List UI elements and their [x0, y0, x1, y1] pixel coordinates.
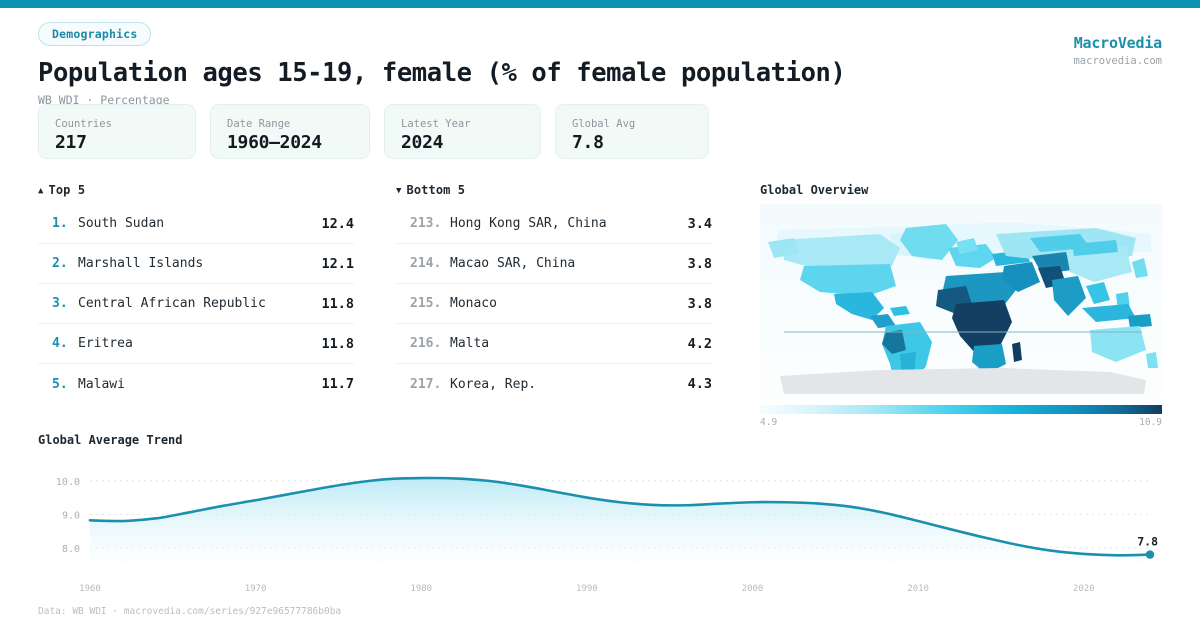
country-value: 3.4 [688, 216, 712, 232]
svg-text:10.0: 10.0 [56, 477, 80, 488]
triangle-up-icon: ▲ [38, 186, 44, 196]
country-name: Malta [450, 336, 688, 351]
legend-gradient-bar [760, 405, 1162, 414]
brand-name: MacroVedia [1073, 34, 1162, 52]
svg-text:8.0: 8.0 [62, 544, 80, 555]
svg-text:9.0: 9.0 [62, 510, 80, 521]
country-name: Malawi [78, 377, 321, 392]
page-body: Demographics Population ages 15-19, fema… [0, 8, 1200, 630]
svg-text:2010: 2010 [907, 584, 929, 594]
legend-max-label: 10.9 [1139, 417, 1162, 428]
svg-text:1970: 1970 [245, 584, 267, 594]
rank-number: 5. [52, 377, 78, 392]
svg-text:2000: 2000 [742, 584, 764, 594]
top5-list: ▲Top 5 1. South Sudan 12.4 2. Marshall I… [38, 183, 354, 404]
country-value: 11.8 [321, 296, 354, 312]
trend-chart[interactable]: 8.09.010.0 7.8 1960197019801990200020102… [38, 455, 1162, 595]
bottom5-heading: ▼Bottom 5 [396, 183, 712, 197]
bottom5-heading-label: Bottom 5 [407, 183, 466, 197]
list-item[interactable]: 2. Marshall Islands 12.1 [38, 244, 354, 284]
list-item[interactable]: 214. Macao SAR, China 3.8 [396, 244, 712, 284]
stat-label: Latest Year [401, 118, 524, 130]
triangle-down-icon: ▼ [396, 186, 402, 196]
end-point-marker [1146, 550, 1154, 558]
country-name: Marshall Islands [78, 256, 321, 271]
svg-text:1990: 1990 [576, 584, 598, 594]
top5-heading: ▲Top 5 [38, 183, 354, 197]
top-accent-bar [0, 0, 1200, 8]
map-heading: Global Overview [760, 183, 1162, 197]
country-name: Korea, Rep. [450, 377, 688, 392]
svg-text:1960: 1960 [79, 584, 101, 594]
country-value: 4.2 [688, 336, 712, 352]
country-value: 12.1 [321, 256, 354, 272]
stat-card-countries: Countries 217 [38, 104, 196, 159]
country-value: 3.8 [688, 256, 712, 272]
stat-label: Global Avg [572, 118, 692, 130]
stat-card-latest-year: Latest Year 2024 [384, 104, 541, 159]
trend-section: Global Average Trend 8.09.010.0 7.8 1960… [38, 433, 1162, 595]
list-item[interactable]: 215. Monaco 3.8 [396, 284, 712, 324]
world-map-svg [760, 204, 1162, 400]
stat-card-date-range: Date Range 1960—2024 [210, 104, 370, 159]
rank-number: 2. [52, 256, 78, 271]
country-value: 12.4 [321, 216, 354, 232]
brand[interactable]: MacroVedia macrovedia.com [1073, 34, 1162, 67]
legend-min-label: 4.9 [760, 417, 777, 428]
list-item[interactable]: 217. Korea, Rep. 4.3 [396, 364, 712, 404]
stat-value: 7.8 [572, 132, 692, 153]
country-name: Eritrea [78, 336, 321, 351]
header: Demographics Population ages 15-19, fema… [38, 22, 1162, 107]
list-item[interactable]: 5. Malawi 11.7 [38, 364, 354, 404]
list-item[interactable]: 216. Malta 4.2 [396, 324, 712, 364]
trend-chart-svg: 8.09.010.0 7.8 1960197019801990200020102… [38, 455, 1162, 595]
rank-number: 1. [52, 216, 78, 231]
category-badge[interactable]: Demographics [38, 22, 151, 46]
country-name: Macao SAR, China [450, 256, 688, 271]
stat-value: 217 [55, 132, 179, 153]
rank-number: 217. [410, 377, 450, 392]
end-point-label: 7.8 [1137, 535, 1158, 549]
country-name: Central African Republic [78, 296, 321, 311]
choropleth-canvas[interactable] [760, 204, 1162, 400]
list-item[interactable]: 4. Eritrea 11.8 [38, 324, 354, 364]
country-value: 4.3 [688, 376, 712, 392]
country-name: Hong Kong SAR, China [450, 216, 688, 231]
global-overview-map: Global Overview [760, 183, 1162, 428]
country-name: South Sudan [78, 216, 321, 231]
map-legend: 4.9 10.9 [760, 405, 1162, 428]
stat-label: Date Range [227, 118, 353, 130]
rank-number: 3. [52, 296, 78, 311]
country-value: 11.7 [321, 376, 354, 392]
top5-heading-label: Top 5 [49, 183, 86, 197]
legend-labels: 4.9 10.9 [760, 417, 1162, 428]
footer-source: Data: WB WDI · macrovedia.com/series/927… [38, 606, 341, 617]
stat-cards: Countries 217 Date Range 1960—2024 Lates… [38, 104, 709, 159]
list-item[interactable]: 213. Hong Kong SAR, China 3.4 [396, 204, 712, 244]
svg-text:1980: 1980 [410, 584, 432, 594]
rank-number: 4. [52, 336, 78, 351]
rank-number: 213. [410, 216, 450, 231]
country-value: 11.8 [321, 336, 354, 352]
trend-heading: Global Average Trend [38, 433, 1162, 447]
rank-number: 214. [410, 256, 450, 271]
stat-label: Countries [55, 118, 179, 130]
brand-url: macrovedia.com [1073, 55, 1162, 67]
page-title: Population ages 15-19, female (% of fema… [38, 58, 1162, 88]
country-value: 3.8 [688, 296, 712, 312]
list-item[interactable]: 1. South Sudan 12.4 [38, 204, 354, 244]
stat-card-global-avg: Global Avg 7.8 [555, 104, 709, 159]
rank-number: 215. [410, 296, 450, 311]
country-name: Monaco [450, 296, 688, 311]
list-item[interactable]: 3. Central African Republic 11.8 [38, 284, 354, 324]
bottom5-list: ▼Bottom 5 213. Hong Kong SAR, China 3.4 … [396, 183, 712, 404]
stat-value: 1960—2024 [227, 132, 353, 153]
stat-value: 2024 [401, 132, 524, 153]
rank-number: 216. [410, 336, 450, 351]
svg-text:2020: 2020 [1073, 584, 1095, 594]
